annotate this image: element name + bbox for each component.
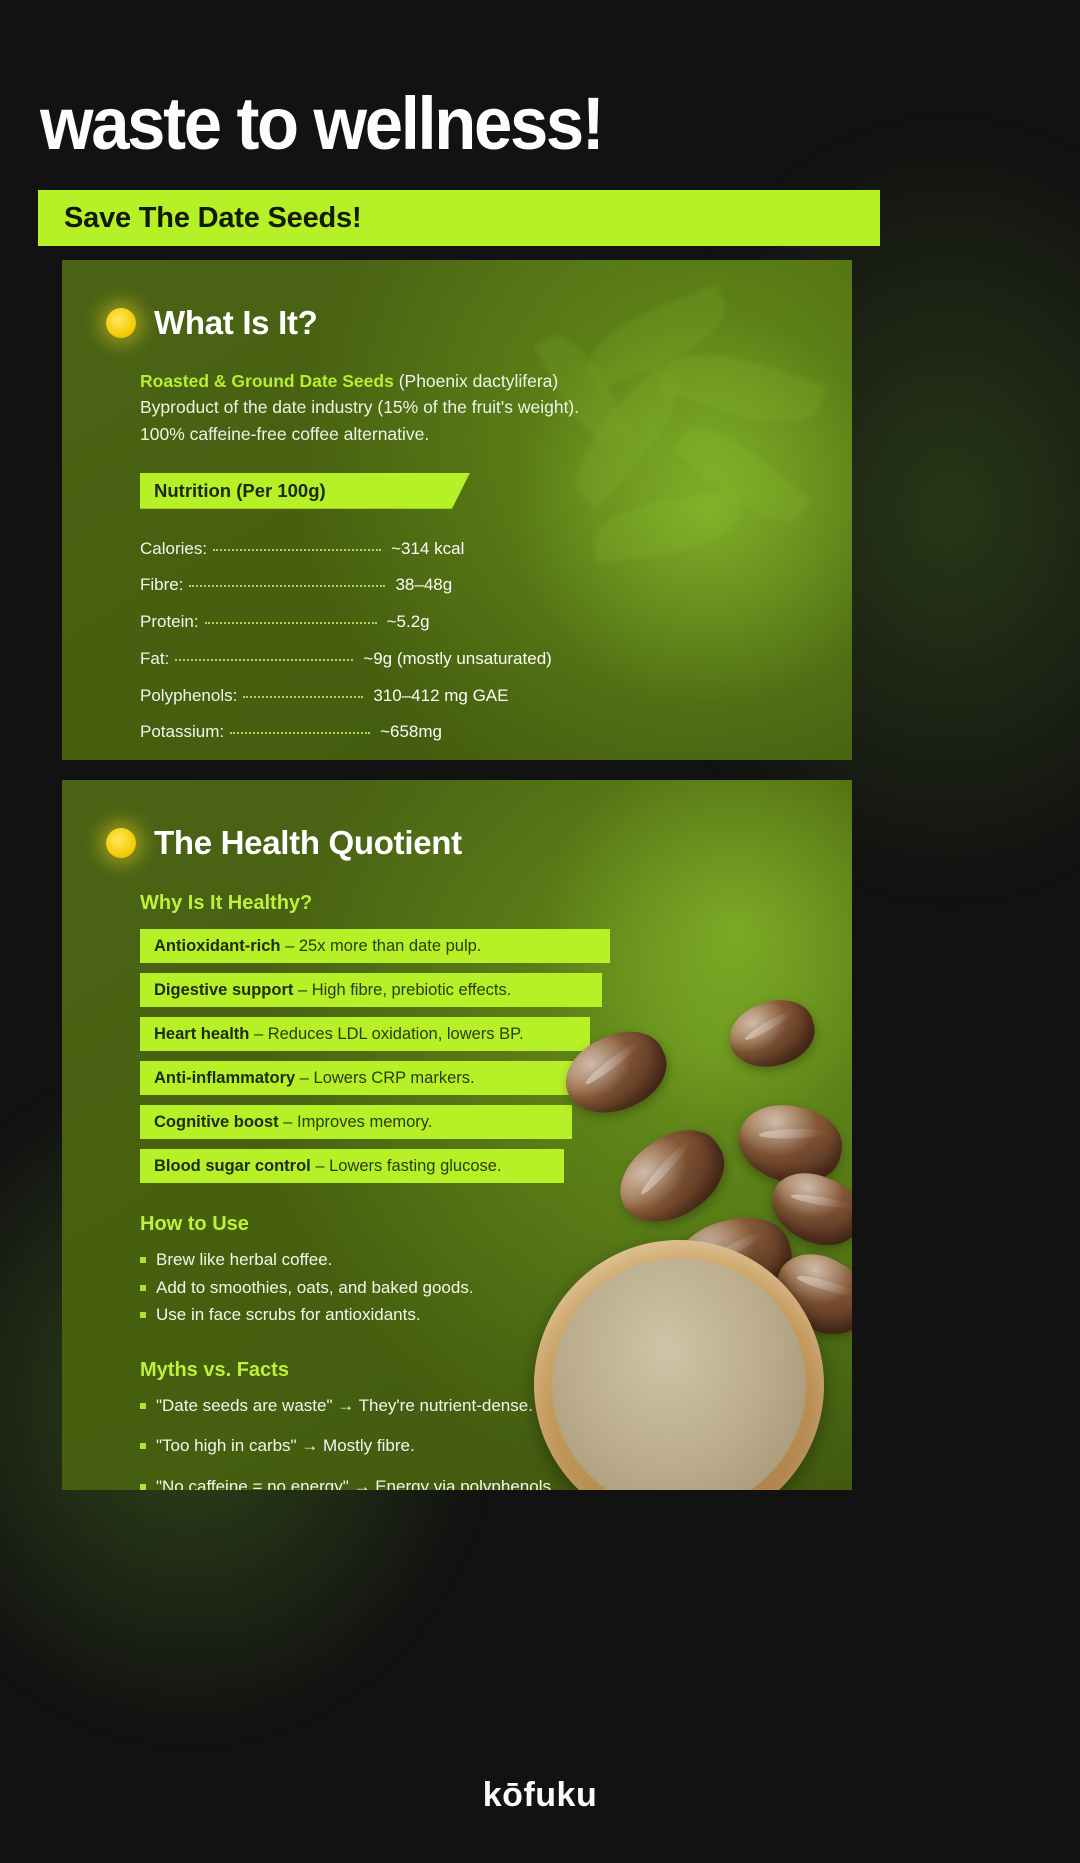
list-item-text: "No caffeine = no energy" → Energy via p… <box>156 1473 556 1490</box>
subtitle-banner: Save The Date Seeds! <box>38 190 880 246</box>
nutrition-list: Calories:~314 kcalFibre:38–48gProtein:~5… <box>140 531 808 760</box>
benefit-description: – Lowers CRP markers. <box>295 1069 474 1088</box>
nutrition-tag: Nutrition (Per 100g) <box>140 473 470 509</box>
benefit-pill: Digestive support – High fibre, prebioti… <box>140 973 602 1007</box>
subheading-how-to-use: How to Use <box>140 1213 808 1236</box>
yellow-dot-icon <box>106 308 136 338</box>
leader-dots <box>175 659 353 661</box>
section-title: The Health Quotient <box>154 824 462 862</box>
benefit-description: – Lowers fasting glucose. <box>311 1157 502 1176</box>
how-to-use-item: Use in face scrubs for antioxidants. <box>140 1301 808 1329</box>
benefit-pill: Antioxidant-rich – 25x more than date pu… <box>140 929 610 963</box>
benefit-term: Blood sugar control <box>154 1157 311 1176</box>
benefit-term: Cognitive boost <box>154 1113 279 1132</box>
what-is-it-description: Roasted & Ground Date Seeds (Phoenix dac… <box>140 368 808 447</box>
nutrition-value: 38–48g <box>395 567 452 604</box>
footer: kōfuku <box>0 1776 1080 1815</box>
list-item-text: Use in face scrubs for antioxidants. <box>156 1301 421 1329</box>
nutrition-label: Fibre: <box>140 567 183 604</box>
how-to-use-item: Brew like herbal coffee. <box>140 1246 808 1274</box>
leader-dots <box>189 585 385 587</box>
yellow-dot-icon <box>106 828 136 858</box>
benefit-description: – Improves memory. <box>279 1113 433 1132</box>
benefit-pill: Heart health – Reduces LDL oxidation, lo… <box>140 1017 590 1051</box>
infographic-page: waste to wellness! Save The Date Seeds! … <box>0 0 1080 1863</box>
description-line-2: Byproduct of the date industry (15% of t… <box>140 394 808 420</box>
list-item-text: "Date seeds are waste" → They're nutrien… <box>156 1392 533 1420</box>
nutrition-value: ~658mg <box>380 714 442 751</box>
myth-fact-item: "No caffeine = no energy" → Energy via p… <box>140 1473 808 1490</box>
nutrition-tag-label: Nutrition (Per 100g) <box>140 473 470 509</box>
leader-dots <box>243 696 363 698</box>
leader-dots <box>230 732 370 734</box>
nutrition-label: Potassium: <box>140 714 224 751</box>
subheading-why-healthy: Why Is It Healthy? <box>140 892 808 915</box>
description-line-3: 100% caffeine-free coffee alternative. <box>140 421 808 447</box>
how-to-use-list: Brew like herbal coffee.Add to smoothies… <box>140 1246 808 1329</box>
section-header-what-is-it: What Is It? <box>62 260 852 342</box>
benefit-term: Antioxidant-rich <box>154 937 281 956</box>
page-title: waste to wellness! <box>40 88 602 159</box>
benefit-description: – 25x more than date pulp. <box>281 937 482 956</box>
benefit-pill: Cognitive boost – Improves memory. <box>140 1105 572 1139</box>
benefit-description: – High fibre, prebiotic effects. <box>293 981 511 1000</box>
nutrition-row: Fat:~9g (mostly unsaturated) <box>140 641 808 678</box>
subtitle-banner-label: Save The Date Seeds! <box>64 202 361 235</box>
card-what-is-it: What Is It? Roasted & Ground Date Seeds … <box>62 260 852 760</box>
benefit-term: Digestive support <box>154 981 293 1000</box>
benefit-term: Anti-inflammatory <box>154 1069 295 1088</box>
nutrition-row: Protein:~5.2g <box>140 604 808 641</box>
benefit-pill: Anti-inflammatory – Lowers CRP markers. <box>140 1061 580 1095</box>
leader-dots <box>213 549 381 551</box>
nutrition-label: Fat: <box>140 641 169 678</box>
nutrition-label: Polyphenols: <box>140 678 237 715</box>
section-header-health-quotient: The Health Quotient <box>62 780 852 862</box>
nutrition-value: ~5.2g <box>387 604 430 641</box>
nutrition-value: ~314 kcal <box>391 531 464 568</box>
how-to-use-item: Add to smoothies, oats, and baked goods. <box>140 1274 808 1302</box>
nutrition-value: 310–412 mg GAE <box>373 678 508 715</box>
nutrition-row: Fibre:38–48g <box>140 567 808 604</box>
myths-facts-list: "Date seeds are waste" → They're nutrien… <box>140 1392 808 1490</box>
benefit-pill: Blood sugar control – Lowers fasting glu… <box>140 1149 564 1183</box>
nutrition-label: Protein: <box>140 604 199 641</box>
list-item-text: "Too high in carbs" → Mostly fibre. <box>156 1432 415 1460</box>
myth-fact-item: "Too high in carbs" → Mostly fibre. <box>140 1432 808 1460</box>
card-health-quotient: The Health Quotient Why Is It Healthy? A… <box>62 780 852 1490</box>
nutrition-value: ~70mg <box>375 751 427 760</box>
nutrition-row: Calories:~314 kcal <box>140 531 808 568</box>
leader-dots <box>205 622 377 624</box>
list-item-text: Add to smoothies, oats, and baked goods. <box>156 1274 474 1302</box>
scientific-name: (Phoenix dactylifera) <box>399 371 559 391</box>
highlight-text: Roasted & Ground Date Seeds <box>140 371 394 391</box>
subheading-myths-vs-facts: Myths vs. Facts <box>140 1359 808 1382</box>
brand-logo: kōfuku <box>0 1776 1080 1815</box>
nutrition-row: Magnesium:~70mg <box>140 751 808 760</box>
list-item-text: Brew like herbal coffee. <box>156 1246 332 1274</box>
nutrition-label: Magnesium: <box>140 751 233 760</box>
nutrition-row: Potassium:~658mg <box>140 714 808 751</box>
myth-fact-item: "Date seeds are waste" → They're nutrien… <box>140 1392 808 1420</box>
benefit-term: Heart health <box>154 1025 249 1044</box>
section-title: What Is It? <box>154 304 318 342</box>
nutrition-label: Calories: <box>140 531 207 568</box>
nutrition-row: Polyphenols:310–412 mg GAE <box>140 678 808 715</box>
benefit-description: – Reduces LDL oxidation, lowers BP. <box>249 1025 523 1044</box>
nutrition-value: ~9g (mostly unsaturated) <box>363 641 552 678</box>
benefit-pill-list: Antioxidant-rich – 25x more than date pu… <box>140 929 808 1183</box>
